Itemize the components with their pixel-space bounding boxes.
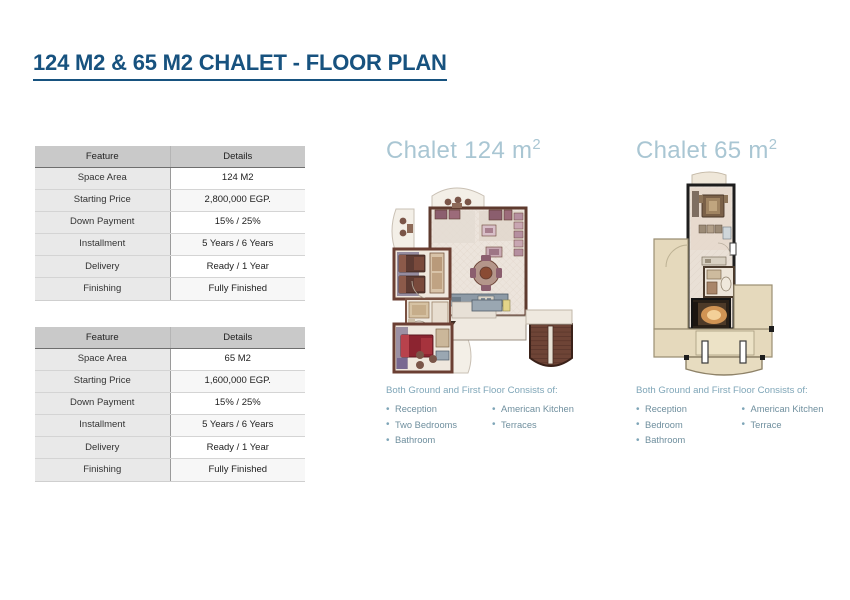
column-header-details: Details — [170, 146, 305, 167]
page-title: 124 M2 & 65 M2 CHALET - FLOOR PLAN — [33, 50, 447, 81]
table-row: Delivery Ready / 1 Year — [35, 256, 305, 278]
chalet-124-heading: Chalet 124 m2 — [386, 138, 626, 163]
list-item: Bedroom — [636, 418, 734, 434]
table-row: Delivery Ready / 1 Year — [35, 437, 305, 459]
cell-feature: Delivery — [35, 437, 170, 459]
chalet-65-plan-column: Chalet 65 m2 — [636, 138, 850, 449]
chalet-65-spec-table: Feature Details Space Area 65 M2 Startin… — [35, 327, 305, 482]
table-row: Starting Price 2,800,000 EGP. — [35, 189, 305, 211]
table-row: Space Area 65 M2 — [35, 348, 305, 370]
list-item: Reception — [636, 402, 734, 418]
cell-feature: Finishing — [35, 459, 170, 481]
cell-feature: Space Area — [35, 167, 170, 189]
list-item: Bathroom — [386, 433, 484, 449]
chalet-124-floorplan-image — [386, 169, 626, 379]
column-header-details: Details — [170, 327, 305, 348]
cell-feature: Down Payment — [35, 392, 170, 414]
cell-details: 1,600,000 EGP. — [170, 370, 305, 392]
table-row: Finishing Fully Finished — [35, 278, 305, 300]
table-row: Installment 5 Years / 6 Years — [35, 415, 305, 437]
table-row: Down Payment 15% / 25% — [35, 392, 305, 414]
table-header-row: Feature Details — [35, 146, 305, 167]
floor-plan-page: 124 M2 & 65 M2 CHALET - FLOOR PLAN Featu… — [0, 0, 850, 600]
cell-feature: Down Payment — [35, 211, 170, 233]
table-row: Space Area 124 M2 — [35, 167, 305, 189]
cell-details: 15% / 25% — [170, 392, 305, 414]
cell-details: Fully Finished — [170, 278, 305, 300]
table-header-row: Feature Details — [35, 327, 305, 348]
chalet-124-spec-table: Feature Details Space Area 124 M2 Starti… — [35, 146, 305, 301]
list-item: Two Bedrooms — [386, 418, 484, 434]
list-item: Terraces — [492, 418, 602, 434]
table-row: Installment 5 Years / 6 Years — [35, 234, 305, 256]
cell-details: 5 Years / 6 Years — [170, 234, 305, 256]
chalet-65-feature-list-left: Reception Bedroom Bathroom — [636, 402, 734, 449]
chalet-65-heading-sup: 2 — [769, 137, 778, 153]
chalet-65-heading: Chalet 65 m2 — [636, 138, 850, 163]
chalet-124-heading-text: Chalet 124 m — [386, 137, 532, 164]
cell-feature: Installment — [35, 234, 170, 256]
chalet-124-feature-list-right: American Kitchen Terraces — [492, 402, 602, 449]
list-item: American Kitchen — [492, 402, 602, 418]
cell-feature: Starting Price — [35, 370, 170, 392]
cell-details: 65 M2 — [170, 348, 305, 370]
list-item: Terrace — [742, 418, 850, 434]
chalet-65-feature-list-right: American Kitchen Terrace — [742, 402, 850, 449]
list-item: American Kitchen — [742, 402, 850, 418]
table-row: Finishing Fully Finished — [35, 459, 305, 481]
cell-feature: Space Area — [35, 348, 170, 370]
chalet-65-heading-text: Chalet 65 m — [636, 137, 769, 164]
cell-feature: Finishing — [35, 278, 170, 300]
cell-details: Ready / 1 Year — [170, 437, 305, 459]
chalet-65-feature-list: Reception Bedroom Bathroom American Kitc… — [636, 402, 850, 449]
list-item: Reception — [386, 402, 484, 418]
table-row: Starting Price 1,600,000 EGP. — [35, 370, 305, 392]
list-item: Bathroom — [636, 433, 734, 449]
cell-feature: Delivery — [35, 256, 170, 278]
chalet-124-consists-title: Both Ground and First Floor Consists of: — [386, 385, 626, 396]
cell-feature: Starting Price — [35, 189, 170, 211]
chalet-124-plan-column: Chalet 124 m2 — [386, 138, 626, 449]
chalet-124-feature-list: Reception Two Bedrooms Bathroom American… — [386, 402, 626, 449]
cell-details: 2,800,000 EGP. — [170, 189, 305, 211]
column-header-feature: Feature — [35, 327, 170, 348]
chalet-124-feature-list-left: Reception Two Bedrooms Bathroom — [386, 402, 484, 449]
cell-feature: Installment — [35, 415, 170, 437]
column-header-feature: Feature — [35, 146, 170, 167]
cell-details: Ready / 1 Year — [170, 256, 305, 278]
chalet-65-floorplan-image — [636, 169, 850, 379]
cell-details: Fully Finished — [170, 459, 305, 481]
cell-details: 124 M2 — [170, 167, 305, 189]
chalet-124-heading-sup: 2 — [532, 137, 541, 153]
chalet-65-consists-title: Both Ground and First Floor Consists of: — [636, 385, 850, 396]
cell-details: 15% / 25% — [170, 211, 305, 233]
cell-details: 5 Years / 6 Years — [170, 415, 305, 437]
table-row: Down Payment 15% / 25% — [35, 211, 305, 233]
